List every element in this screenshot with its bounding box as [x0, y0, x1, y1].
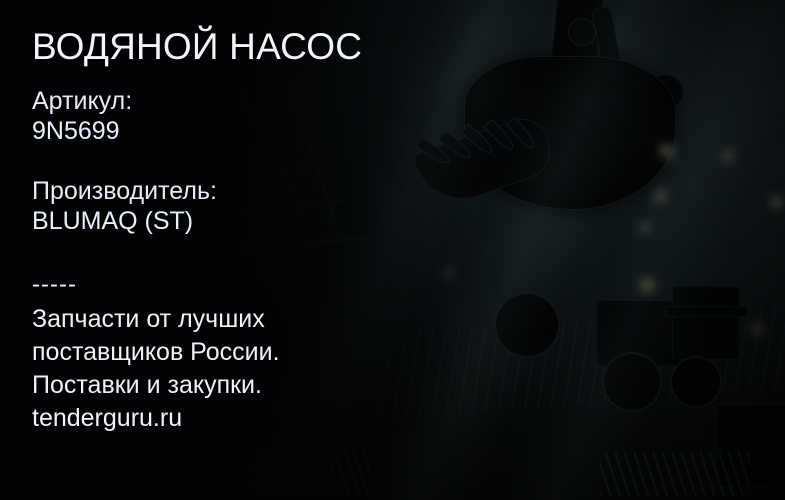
background-bokeh-light: [640, 278, 654, 292]
article-label: Артикул:: [32, 87, 132, 115]
promo-line-3: Поставки и закупки.: [32, 369, 280, 402]
background-bokeh-light: [752, 324, 763, 335]
article-value: 9N5699: [32, 116, 132, 146]
background-wheel: [494, 292, 560, 358]
product-card: ВОДЯНОЙ НАСОС Артикул: 9N5699 Производит…: [0, 0, 785, 500]
promo-line-1: Запчасти от лучших: [32, 303, 280, 336]
background-bokeh-light: [660, 144, 674, 158]
background-track-tread: [600, 452, 750, 496]
promo-blurb: Запчасти от лучших поставщиков России. П…: [32, 303, 280, 435]
background-bokeh-light: [770, 196, 783, 209]
excavator-bucket-silhouette: [404, 0, 785, 244]
background-bokeh-light: [640, 222, 651, 233]
manufacturer-label: Производитель:: [32, 177, 217, 205]
background-bokeh-light: [654, 190, 667, 203]
background-machine-roof: [664, 306, 748, 317]
manufacturer-field: Производитель: BLUMAQ (ST): [32, 176, 217, 236]
background-machine-cab: [672, 286, 740, 360]
background-wheel: [602, 352, 662, 412]
manufacturer-value: BLUMAQ (ST): [32, 206, 217, 236]
promo-line-2: поставщиков России.: [32, 336, 280, 369]
background-wheel: [670, 356, 722, 408]
divider-dashes: -----: [32, 272, 77, 298]
page-title: ВОДЯНОЙ НАСОС: [32, 26, 362, 68]
article-field: Артикул: 9N5699: [32, 86, 132, 146]
site-url: tenderguru.ru: [32, 402, 280, 435]
card-content: ВОДЯНОЙ НАСОС Артикул: 9N5699 Производит…: [32, 0, 452, 500]
background-bokeh-light: [722, 150, 734, 162]
bucket-pin: [568, 18, 596, 46]
